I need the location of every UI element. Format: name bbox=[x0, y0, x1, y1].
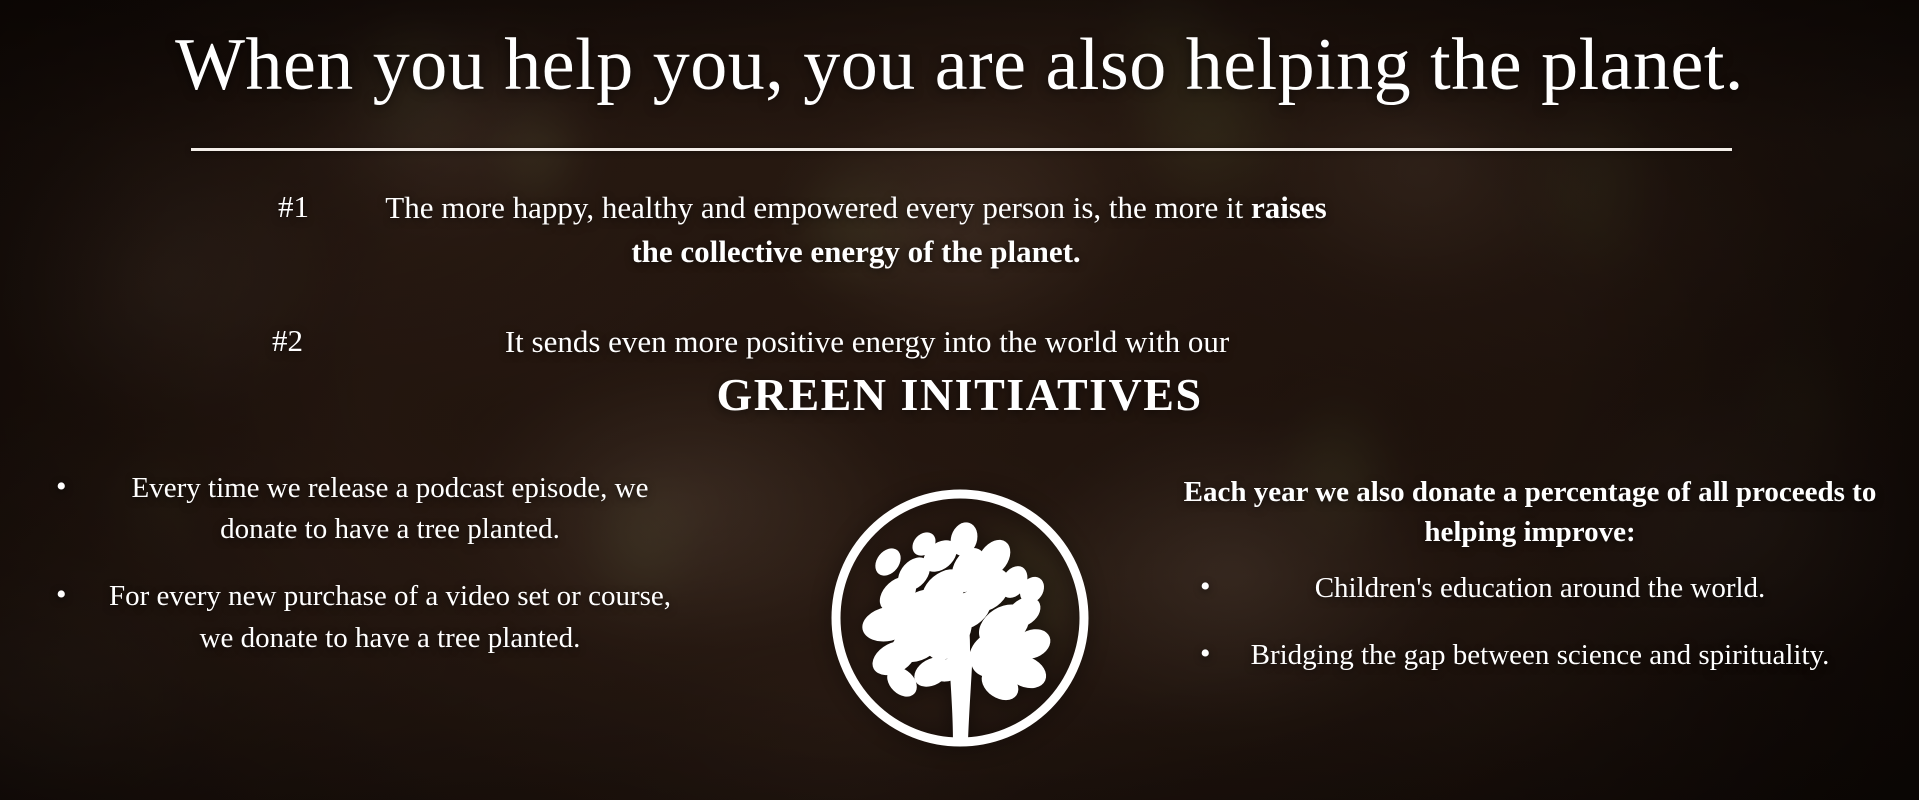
list-item: For every new purchase of a video set or… bbox=[34, 576, 734, 658]
point-number-2: #2 bbox=[272, 320, 382, 362]
point-text-2: It sends even more positive energy into … bbox=[382, 320, 1352, 364]
section-heading-green-initiatives: GREEN INITIATIVES bbox=[0, 368, 1919, 421]
slide-root: When you help you, you are also helping … bbox=[0, 0, 1919, 800]
right-column: Each year we also donate a percentage of… bbox=[1180, 472, 1880, 676]
list-item: Bridging the gap between science and spi… bbox=[1180, 635, 1880, 676]
right-bullet-list: Children's education around the world. B… bbox=[1180, 568, 1880, 676]
right-column-heading: Each year we also donate a percentage of… bbox=[1180, 472, 1880, 552]
point-text-1: The more happy, healthy and empowered ev… bbox=[374, 186, 1338, 274]
page-title: When you help you, you are also helping … bbox=[0, 26, 1919, 104]
list-item: Every time we release a podcast episode,… bbox=[34, 468, 734, 550]
left-column: Every time we release a podcast episode,… bbox=[34, 468, 734, 659]
point-text-1-normal: The more happy, healthy and empowered ev… bbox=[385, 190, 1251, 225]
left-bullet-list: Every time we release a podcast episode,… bbox=[34, 468, 734, 659]
slide-content: When you help you, you are also helping … bbox=[0, 0, 1919, 800]
numbered-point-1: #1 The more happy, healthy and empowered… bbox=[278, 186, 1338, 274]
list-item: Children's education around the world. bbox=[1180, 568, 1880, 609]
tree-in-circle-icon bbox=[828, 486, 1092, 750]
numbered-point-2: #2 It sends even more positive energy in… bbox=[272, 320, 1352, 364]
point-number-1: #1 bbox=[278, 186, 374, 228]
title-divider bbox=[191, 148, 1732, 151]
